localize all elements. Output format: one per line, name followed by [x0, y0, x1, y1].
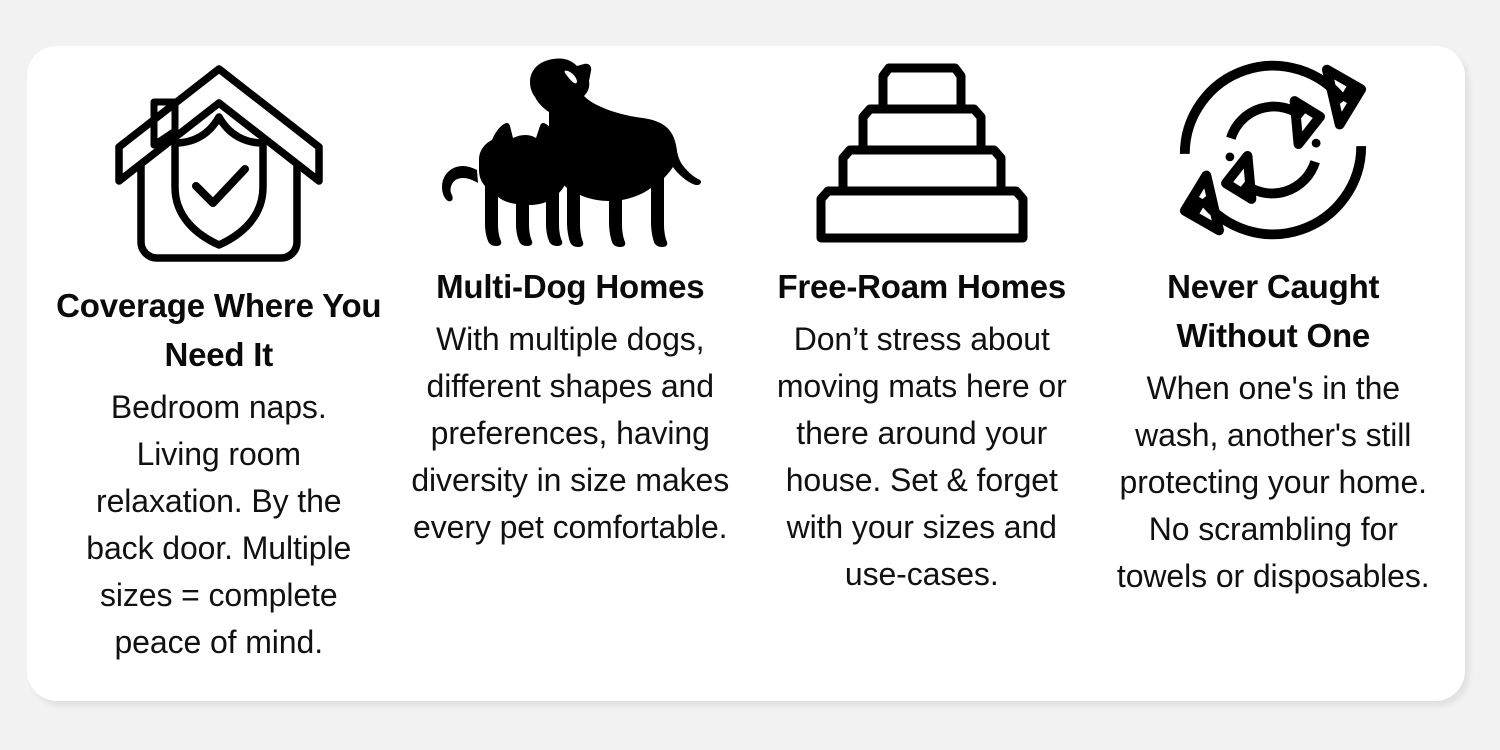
benefit-title: Free-Roam Homes — [777, 262, 1066, 311]
refresh-cycle-icon — [1173, 52, 1373, 248]
benefit-title: Coverage Where You Need It — [54, 281, 384, 379]
house-shield-check-icon — [113, 52, 325, 267]
benefit-title: Multi-Dog Homes — [436, 262, 704, 311]
benefit-title: Never Caught Without One — [1108, 262, 1438, 360]
benefit-column-never-caught: Never Caught Without One When one's in t… — [1098, 52, 1450, 600]
benefit-body: Don’t stress about moving mats here or t… — [757, 316, 1087, 598]
benefit-body: Bedroom naps. Living room relaxation. By… — [69, 384, 369, 666]
stacked-mats-steps-icon — [811, 52, 1033, 248]
benefits-card: Coverage Where You Need It Bedroom naps.… — [27, 46, 1465, 701]
benefit-column-free-roam: Free-Roam Homes Don’t stress about movin… — [746, 52, 1098, 598]
benefit-column-multi-dog: Multi-Dog Homes With multiple dogs, diff… — [395, 52, 747, 551]
benefit-column-coverage: Coverage Where You Need It Bedroom naps.… — [43, 52, 395, 666]
benefit-body: When one's in the wash, another's still … — [1107, 365, 1439, 600]
benefit-body: With multiple dogs, different shapes and… — [411, 316, 729, 551]
two-dogs-icon — [437, 52, 703, 248]
